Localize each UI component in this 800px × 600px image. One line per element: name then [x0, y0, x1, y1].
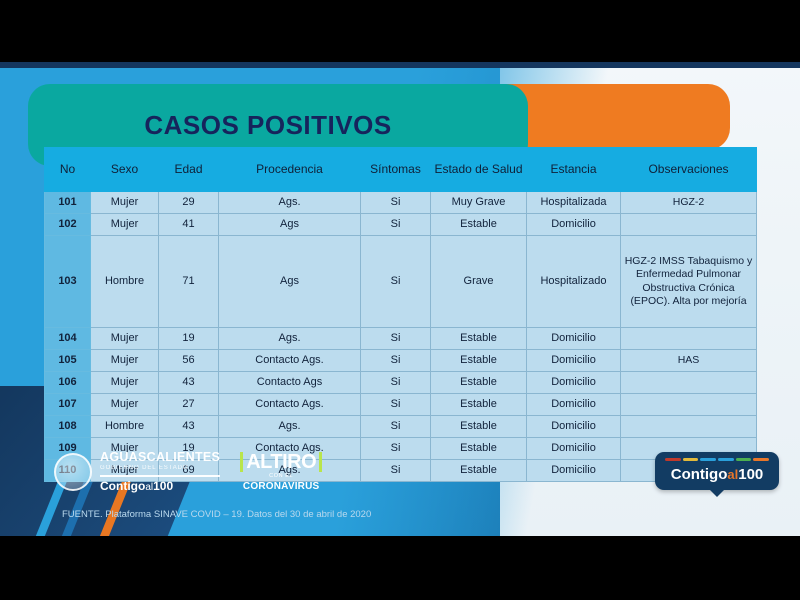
column-header-observaciones: Observaciones — [621, 148, 757, 192]
badge-color-bars — [665, 458, 769, 461]
cases-table-container: No Sexo Edad Procedencia Síntomas Estado… — [44, 147, 756, 482]
badge-text: Contigoal100 — [671, 466, 764, 483]
column-header-sintomas: Síntomas — [361, 148, 431, 192]
cell-estancia: Domicilio — [527, 214, 621, 236]
table-row: 101Mujer29Ags.SiMuy GraveHospitalizadaHG… — [45, 192, 757, 214]
aguascalientes-seal-icon — [52, 450, 94, 494]
cell-no: 107 — [45, 394, 91, 416]
cell-estado-salud: Estable — [431, 438, 527, 460]
table-row: 104Mujer19Ags.SiEstableDomicilio — [45, 328, 757, 350]
state-name: AGUASCALIENTES — [100, 451, 220, 464]
column-header-edad: Edad — [159, 148, 219, 192]
badge-bar — [700, 458, 716, 461]
cell-estado-salud: Estable — [431, 328, 527, 350]
cell-estancia: Domicilio — [527, 328, 621, 350]
badge-al: al — [727, 467, 738, 482]
cell-estancia: Domicilio — [527, 350, 621, 372]
state-government-logo: AGUASCALIENTES GOBIERNO DEL ESTADO Conti… — [100, 451, 220, 494]
cell-no: 101 — [45, 192, 91, 214]
table-row: 107Mujer27Contacto Ags.SiEstableDomicili… — [45, 394, 757, 416]
cell-edad: 43 — [159, 372, 219, 394]
cell-procedencia: Ags — [219, 236, 361, 328]
cell-estancia: Domicilio — [527, 372, 621, 394]
cell-estado-salud: Estable — [431, 394, 527, 416]
altiro-coronavirus-word: CORONAVIRUS — [240, 482, 322, 492]
cell-procedencia: Ags — [219, 214, 361, 236]
contigo-al-100-badge: Contigoal100 — [655, 452, 779, 490]
cell-sexo: Mujer — [91, 350, 159, 372]
cell-procedencia: Contacto Ags. — [219, 394, 361, 416]
cell-procedencia: Ags. — [219, 416, 361, 438]
cell-estado-salud: Estable — [431, 416, 527, 438]
cell-edad: 29 — [159, 192, 219, 214]
cell-sintomas: Si — [361, 372, 431, 394]
cell-observaciones — [621, 214, 757, 236]
table-row: 106Mujer43Contacto AgsSiEstableDomicilio — [45, 372, 757, 394]
table-row: 102Mujer41AgsSiEstableDomicilio — [45, 214, 757, 236]
cell-estancia: Domicilio — [527, 460, 621, 482]
cell-estado-salud: Grave — [431, 236, 527, 328]
cell-sintomas: Si — [361, 236, 431, 328]
cell-edad: 41 — [159, 214, 219, 236]
cell-sintomas: Si — [361, 438, 431, 460]
logo-divider — [100, 475, 220, 477]
cell-edad: 19 — [159, 328, 219, 350]
table-row: 108Hombre43Ags.SiEstableDomicilio — [45, 416, 757, 438]
badge-bar — [665, 458, 681, 461]
cell-no: 103 — [45, 236, 91, 328]
cell-estancia: Domicilio — [527, 438, 621, 460]
cell-sexo: Mujer — [91, 394, 159, 416]
cell-sintomas: Si — [361, 394, 431, 416]
column-header-no: No — [45, 148, 91, 192]
cell-edad: 43 — [159, 416, 219, 438]
column-header-estado-salud: Estado de Salud — [431, 148, 527, 192]
cell-no: 108 — [45, 416, 91, 438]
cell-observaciones — [621, 328, 757, 350]
table-row: 103Hombre71AgsSiGraveHospitalizadoHGZ-2 … — [45, 236, 757, 328]
column-header-procedencia: Procedencia — [219, 148, 361, 192]
cell-estado-salud: Estable — [431, 350, 527, 372]
state-contigo-100: 100 — [153, 479, 173, 493]
badge-bar — [683, 458, 699, 461]
cell-sexo: Hombre — [91, 416, 159, 438]
cell-procedencia: Contacto Ags. — [219, 350, 361, 372]
cell-sexo: Hombre — [91, 236, 159, 328]
cell-sexo: Mujer — [91, 372, 159, 394]
table-body: 101Mujer29Ags.SiMuy GraveHospitalizadaHG… — [45, 192, 757, 482]
cell-sexo: Mujer — [91, 192, 159, 214]
cell-observaciones: HAS — [621, 350, 757, 372]
cell-edad: 56 — [159, 350, 219, 372]
cell-no: 104 — [45, 328, 91, 350]
badge-bar — [753, 458, 769, 461]
table-row: 105Mujer56Contacto Ags.SiEstableDomicili… — [45, 350, 757, 372]
cell-sintomas: Si — [361, 328, 431, 350]
cell-estancia: Domicilio — [527, 416, 621, 438]
cell-estancia: Hospitalizado — [527, 236, 621, 328]
cell-sintomas: Si — [361, 460, 431, 482]
badge-bar — [736, 458, 752, 461]
cell-edad: 27 — [159, 394, 219, 416]
cell-procedencia: Ags. — [219, 192, 361, 214]
badge-bar — [718, 458, 734, 461]
cell-procedencia: Contacto Ags — [219, 372, 361, 394]
cell-edad: 71 — [159, 236, 219, 328]
cases-table: No Sexo Edad Procedencia Síntomas Estado… — [44, 147, 757, 482]
cell-estado-salud: Estable — [431, 460, 527, 482]
column-header-estancia: Estancia — [527, 148, 621, 192]
cell-sintomas: Si — [361, 192, 431, 214]
cell-observaciones — [621, 372, 757, 394]
cell-estado-salud: Estable — [431, 372, 527, 394]
cell-sintomas: Si — [361, 350, 431, 372]
slide-canvas: CASOS POSITIVOS No Sexo Edad Procedencia… — [0, 62, 800, 536]
altiro-con-el: CON EL — [240, 474, 322, 480]
state-contigo-lockup: Contigoal100 — [100, 480, 220, 493]
cell-estado-salud: Estable — [431, 214, 527, 236]
cell-no: 105 — [45, 350, 91, 372]
cell-observaciones — [621, 394, 757, 416]
badge-contigo: Contigo — [671, 466, 728, 483]
cell-observaciones: HGZ-2 — [621, 192, 757, 214]
cell-no: 106 — [45, 372, 91, 394]
cell-sexo: Mujer — [91, 328, 159, 350]
altiro-coronavirus-logo: ALTIRO CON EL CORONAVIRUS — [236, 450, 326, 494]
column-header-sexo: Sexo — [91, 148, 159, 192]
cell-estancia: Hospitalizada — [527, 192, 621, 214]
government-logos: AGUASCALIENTES GOBIERNO DEL ESTADO Conti… — [52, 450, 326, 494]
source-note: FUENTE. Plataforma SINAVE COVID – 19. Da… — [62, 509, 371, 520]
cell-observaciones: HGZ-2 IMSS Tabaquismo y Enfermedad Pulmo… — [621, 236, 757, 328]
header-orange-shape — [500, 84, 730, 150]
cell-sexo: Mujer — [91, 214, 159, 236]
state-contigo-al: al — [145, 482, 153, 493]
cell-observaciones — [621, 416, 757, 438]
cell-sintomas: Si — [361, 214, 431, 236]
state-subtitle: GOBIERNO DEL ESTADO — [100, 465, 220, 471]
cell-sintomas: Si — [361, 416, 431, 438]
altiro-wordmark: ALTIRO — [240, 452, 322, 472]
cell-procedencia: Ags. — [219, 328, 361, 350]
cell-no: 102 — [45, 214, 91, 236]
cell-estancia: Domicilio — [527, 394, 621, 416]
cell-estado-salud: Muy Grave — [431, 192, 527, 214]
badge-100: 100 — [738, 466, 763, 483]
state-contigo-word: Contigo — [100, 479, 145, 493]
table-header-row: No Sexo Edad Procedencia Síntomas Estado… — [45, 148, 757, 192]
